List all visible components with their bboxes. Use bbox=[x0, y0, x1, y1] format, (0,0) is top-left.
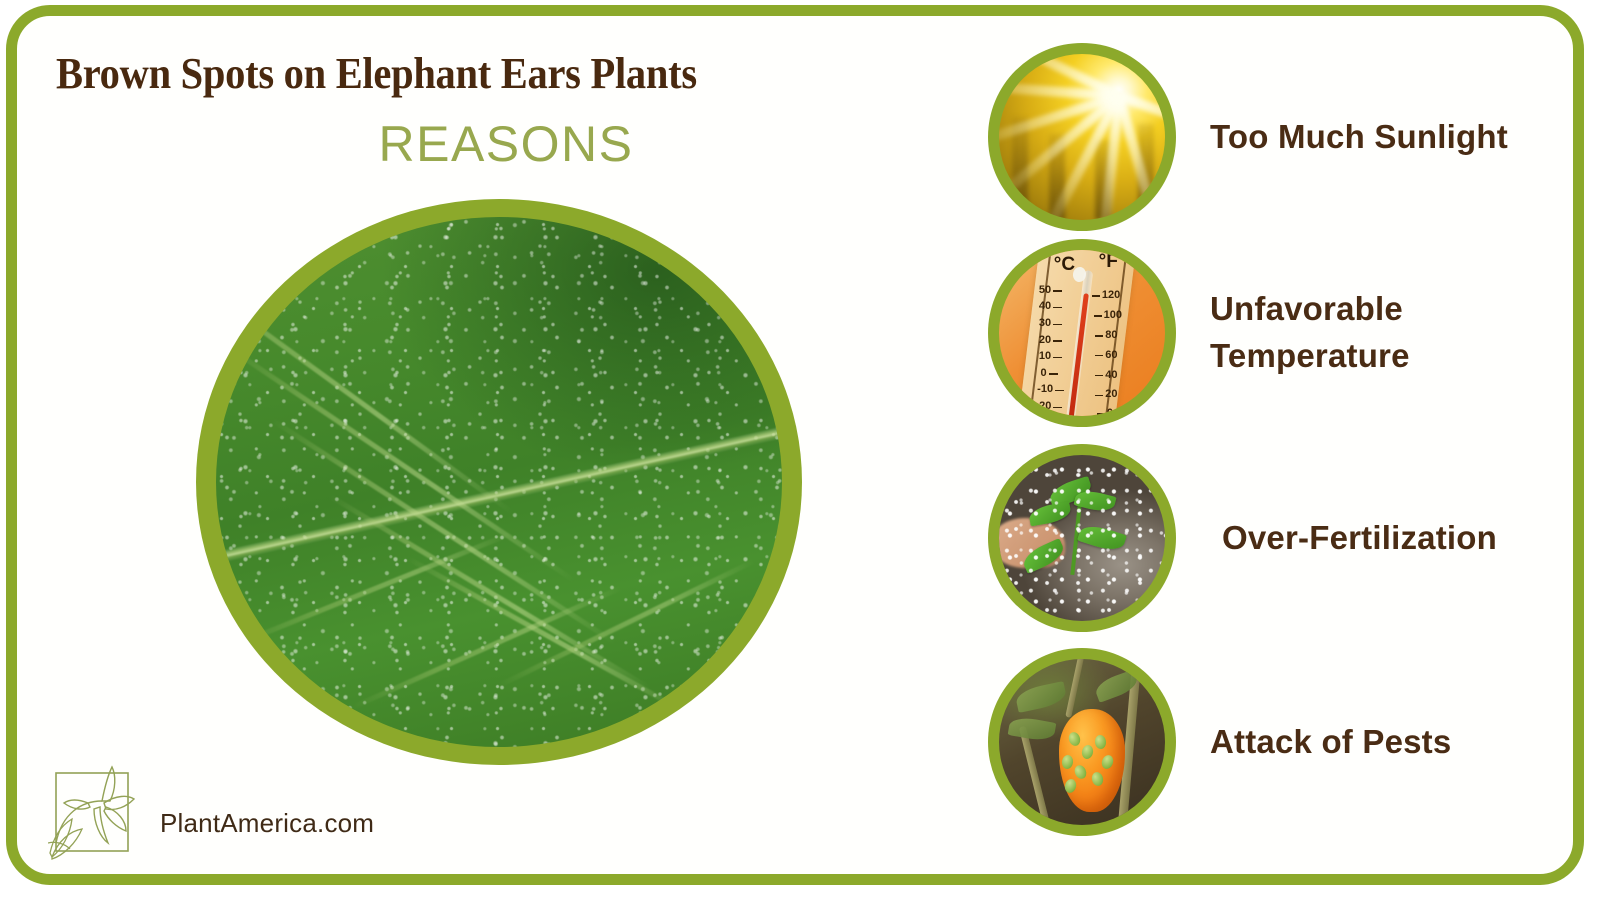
celsius-tick: 40 bbox=[1039, 301, 1051, 312]
reason-image-circle: °C °F 50 40 30 20 10 0 -10 -20 120 100 8… bbox=[988, 239, 1176, 427]
fahrenheit-tick: 100 bbox=[1104, 310, 1122, 321]
plant-leaf bbox=[1014, 681, 1067, 712]
reason-label-temperature: Unfavorable Temperature bbox=[1176, 286, 1568, 380]
thermometer-photo: °C °F 50 40 30 20 10 0 -10 -20 120 100 8… bbox=[999, 250, 1165, 416]
sunburst-through-trees-photo bbox=[999, 54, 1165, 220]
aphids-on-tomato-photo bbox=[999, 659, 1165, 825]
fahrenheit-tick: 80 bbox=[1105, 330, 1117, 341]
leaf-water-droplets-texture bbox=[216, 217, 782, 747]
wet-green-leaf-closeup-photo bbox=[216, 217, 782, 747]
reason-row-pests: Attack of Pests bbox=[988, 647, 1568, 837]
infographic-canvas: Brown Spots on Elephant Ears Plants REAS… bbox=[0, 0, 1600, 900]
page-subtitle: REASONS bbox=[56, 118, 956, 171]
reason-label-temperature-line2: Temperature bbox=[1210, 333, 1568, 380]
hero-leaf-circle bbox=[196, 199, 802, 765]
reason-row-fertilization: Over-Fertilization bbox=[988, 443, 1568, 633]
fahrenheit-tick: 120 bbox=[1102, 290, 1120, 301]
plant-leaf bbox=[1008, 715, 1057, 743]
site-name-label: PlantAmerica.com bbox=[160, 808, 374, 839]
fahrenheit-unit-label: °F bbox=[1099, 252, 1118, 271]
celsius-tick: 50 bbox=[1039, 285, 1051, 296]
reason-row-temperature: °C °F 50 40 30 20 10 0 -10 -20 120 100 8… bbox=[988, 238, 1568, 428]
reason-label-temperature-line1: Unfavorable bbox=[1210, 286, 1568, 333]
fahrenheit-tick: 40 bbox=[1105, 370, 1117, 381]
fahrenheit-letter: F bbox=[1106, 251, 1118, 272]
fertilizer-granules-on-seedling-photo bbox=[999, 455, 1165, 621]
celsius-unit-label: °C bbox=[1054, 255, 1075, 274]
reason-image-circle bbox=[988, 444, 1176, 632]
reason-image-circle bbox=[988, 43, 1176, 231]
celsius-letter: C bbox=[1061, 254, 1075, 275]
fahrenheit-tick: 20 bbox=[1105, 389, 1117, 400]
celsius-tick: -20 bbox=[1036, 401, 1052, 412]
reason-label-pests: Attack of Pests bbox=[1176, 719, 1568, 766]
celsius-tick: 20 bbox=[1039, 335, 1051, 346]
reason-label-sunlight: Too Much Sunlight bbox=[1176, 114, 1568, 161]
celsius-tick: -10 bbox=[1037, 384, 1053, 395]
reason-label-fertilization: Over-Fertilization bbox=[1176, 515, 1568, 562]
fahrenheit-tick: 0 bbox=[1107, 408, 1113, 416]
page-title: Brown Spots on Elephant Ears Plants bbox=[56, 50, 884, 98]
celsius-tick: 30 bbox=[1039, 318, 1051, 329]
celsius-tick: 0 bbox=[1041, 368, 1047, 379]
celsius-tick: 10 bbox=[1039, 351, 1051, 362]
reason-image-circle bbox=[988, 648, 1176, 836]
plantamerica-flower-logo bbox=[48, 757, 148, 861]
fahrenheit-tick: 60 bbox=[1105, 350, 1117, 361]
reason-row-sunlight: Too Much Sunlight bbox=[988, 42, 1568, 232]
plant-twig bbox=[1019, 726, 1052, 825]
fertilizer-granules-texture bbox=[999, 455, 1165, 621]
